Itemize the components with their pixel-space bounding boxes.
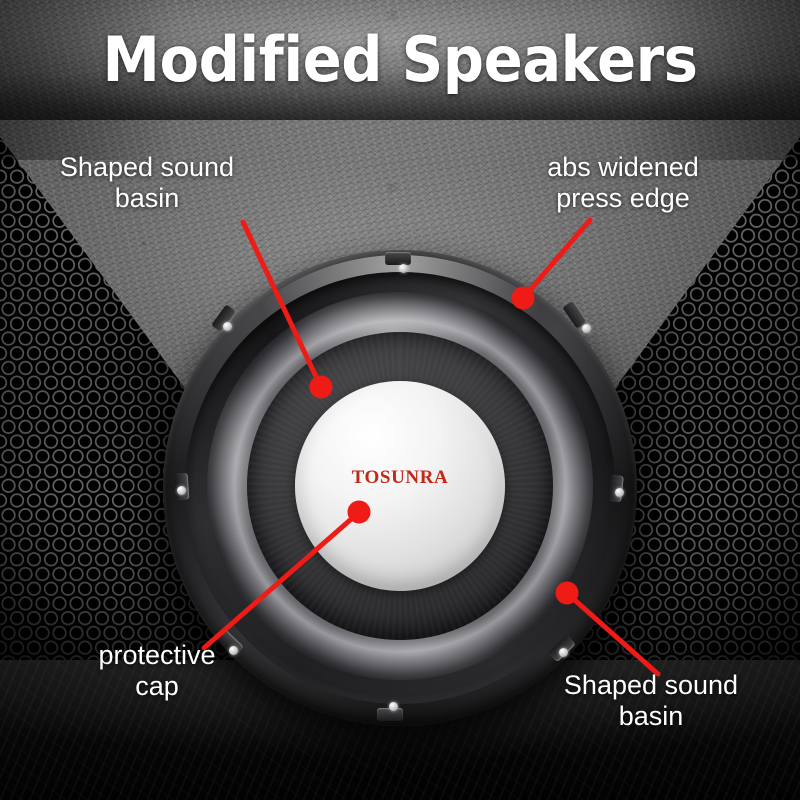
- mounting-screw: [223, 322, 232, 331]
- mounting-screw: [615, 488, 624, 497]
- mounting-tab: [385, 252, 411, 265]
- infographic-canvas: Modified Speakers TOSUNRA: [0, 0, 800, 800]
- mounting-screw: [559, 648, 568, 657]
- mounting-screw: [177, 486, 186, 495]
- dust-cap: TOSUNRA: [295, 381, 505, 591]
- callout-label-shaped-sound-basin-bottom: Shaped sound basin: [524, 670, 778, 732]
- callout-label-shaped-sound-basin-top: Shaped sound basin: [22, 152, 272, 214]
- page-title: Modified Speakers: [28, 28, 772, 92]
- callout-label-protective-cap: protective cap: [44, 640, 270, 702]
- brand-logo-text: TOSUNRA: [295, 467, 505, 489]
- mounting-screw: [389, 702, 398, 711]
- callout-label-abs-widened-press-edge: abs widened press edge: [512, 152, 734, 214]
- mounting-screw: [399, 264, 408, 273]
- mounting-screw: [582, 324, 591, 333]
